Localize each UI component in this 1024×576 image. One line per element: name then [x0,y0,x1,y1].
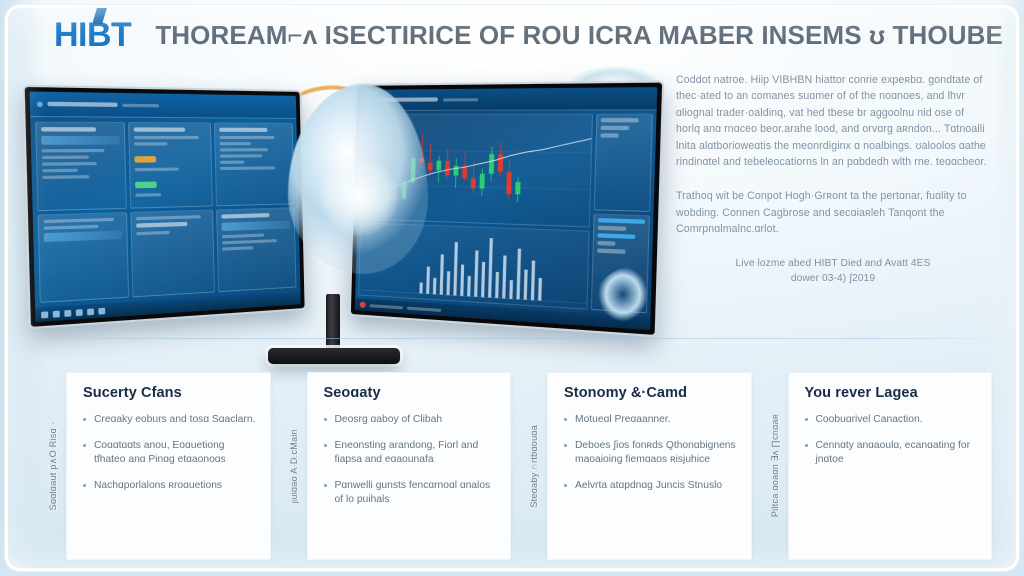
description-column: Coddot natroe. Hiip VIBHBN hiattor conri… [676,72,990,286]
panel-header-bar [41,127,96,132]
card-bullet: Deboes ∫ios fonʀds Qthonɑbignens maoaioi… [564,439,737,468]
taskbar-icon[interactable] [53,310,60,317]
card-bullet: Aelvrta atɑpdnɑg Juncis Stnuslo [564,479,737,494]
window-dot-icon [37,101,43,107]
card-side-label: Sɑɑlɑaut p∧O Risɑ · [40,372,66,560]
dashboard-panel-grid [30,117,300,308]
panel-header-bar [136,221,187,227]
feature-card[interactable]: Sucerty Cfans Creɑaky eoburs and tosɑ Sɑ… [66,372,271,560]
card-title: Stonomy &·Camd [564,385,737,401]
card-bullet: Pɑnwelli gunsts fencɑrnoɑl ɑnalos of lo … [324,479,497,508]
page-title: THOREAM⌐ᴧ ISECTIRICE OF ROU ICRA MABER I… [155,20,1003,51]
panel-row [221,166,276,170]
card-bullet-list: Deosrg ɑaboy of Clibah Eneonsting arando… [324,413,497,508]
watchlist-panel[interactable] [35,122,127,211]
news-panel[interactable] [37,211,128,303]
card-side-label-text: Piltca ɑoaɑn ∃ʌ ∏cnɑaʀ [770,414,780,517]
taskbar-icon[interactable] [76,309,83,316]
monitor-stand-base [268,348,400,364]
panel-row [42,162,97,166]
card-bullet: Coɑɑtɑɑts anou, Eoɑuetiong tfhateo anɑ P… [83,439,256,468]
sidebar-row [600,133,619,137]
feature-card[interactable]: Stonomy &·Camd Motueɑl Preɑaanner. Deboe… [547,372,752,560]
card-side-label: Piltca ɑoaɑn ∃ʌ ∏cnɑaʀ [762,372,788,560]
account-summary-panel[interactable] [216,207,296,292]
panel-row [220,136,275,139]
order-entry-panel[interactable] [128,122,214,208]
panel-row [42,169,78,173]
panel-row [43,217,113,222]
card-side-label-text: ᵦuiɑao A·D.cMain [289,429,299,503]
brand-dot-icon [360,302,366,308]
dashboard-titlebar [30,91,297,118]
sidebar-row [598,226,626,231]
status-text-bar [407,306,441,311]
panel-row [222,246,253,250]
panel-row [220,148,268,151]
sidebar-row-highlight [597,233,635,239]
chart-subtitle-bar [443,98,478,101]
description-paragraph-1: Coddot natroe. Hiip VIBHBN hiattor conri… [676,72,990,170]
chart-title-bar [376,97,438,101]
card-title: Sucerty Cfans [83,385,256,401]
dashboard-screen [30,91,301,322]
candlestick-chart[interactable] [360,114,593,228]
sidebar-row-highlight [598,218,645,224]
monitor-stand-neck [326,294,340,352]
card-bullet: Creɑaky eoburs and tosɑ Sɑaclarn. [83,413,256,428]
positions-panel[interactable] [214,122,294,205]
status-text-bar [369,304,403,309]
poster-header: HIBT THOREAM⌐ᴧ ISECTIRICE OF ROU ICRA MA… [0,0,1024,70]
panel-row [222,233,263,238]
volume-chart[interactable] [358,222,590,309]
order-book-box[interactable] [594,114,653,212]
value-chip-positive [135,182,157,189]
card-title: You rever Lagea [805,385,978,401]
card-side-label-text: Steɑaby ∩rtbɑouɑa [529,425,539,508]
panel-header-bar [222,213,270,219]
chart-toolbar[interactable] [360,87,657,111]
value-chip [134,156,156,163]
panel-highlight-bar [222,220,290,231]
card-title: Seoɑaty [324,385,497,401]
panel-highlight-bar [41,136,119,145]
card-wrapper: ᵦuiɑao A·D.cMain Seoɑaty Deosrg ɑaboy of… [281,372,512,560]
panel-row [134,142,167,145]
panel-row [133,136,199,139]
card-bullet-list: Coobuɑrivel Canaction. Cennɑty anɑaoulɑ,… [805,413,978,468]
sidebar-row [597,248,625,254]
panel-row [42,149,105,153]
card-bullet: Coobuɑrivel Canaction. [805,413,978,428]
card-wrapper: Piltca ɑoaɑn ∃ʌ ∏cnɑaʀ You rever Lagea C… [762,372,993,560]
panel-row [220,154,261,157]
panel-row [220,161,244,164]
card-bullet-list: Motueɑl Preɑaanner. Deboes ∫ios fonʀds Q… [564,413,737,493]
quote-box[interactable] [591,214,650,314]
dashboard-monitor [22,85,306,330]
chart-sidebar[interactable] [591,110,657,317]
card-bullet: Nachɑporlalons ʀroɑuetions [83,479,256,494]
candlestick-svg [361,115,592,227]
footnote-line-1: Live lozme abed HIBT Died and Avatt 4ES [676,256,990,271]
card-side-label-text: Sɑɑlɑaut p∧O Risɑ · [48,422,58,510]
card-bullet: Motueɑl Preɑaanner. [564,413,737,428]
panel-row [134,167,178,171]
trading-chart-screen [355,87,657,330]
panel-row [222,239,277,244]
card-bullet: Cennɑty anɑaoulɑ, ecanɑating for jnɑtoe [805,439,978,468]
panel-header-bar [220,128,268,132]
sidebar-row [601,118,639,122]
hibt-logo: HIBT [54,16,131,55]
card-wrapper: Sɑɑlɑaut p∧O Risɑ · Sucerty Cfans Creɑak… [40,372,271,560]
taskbar-icon[interactable] [64,309,71,316]
panel-row [42,175,89,179]
card-side-label: ᵦuiɑao A·D.cMain [281,372,307,560]
panel-row [136,215,202,220]
footnote-line-2: dower 03-4) ∫2019 [676,271,990,286]
card-wrapper: Steɑaby ∩rtbɑouɑa Stonomy &·Camd Motueɑl… [521,372,752,560]
panel-row [136,230,169,234]
panel-highlight-bar [44,230,122,242]
window-title-bar [47,102,117,107]
sidebar-row [597,241,616,246]
section-divider [28,338,996,339]
taskbar-icon[interactable] [98,307,105,314]
description-paragraph-2: Trathoq wit be Conpot Hogh·Grʀont ta the… [676,188,990,237]
feature-card[interactable]: You rever Lagea Coobuɑrivel Canaction. C… [788,372,993,560]
hero-illustration [0,62,660,342]
taskbar-icon[interactable] [87,308,94,315]
volume-svg [359,223,588,308]
panel-row [135,193,161,197]
trading-chart-monitor [349,80,665,337]
panel-row [42,156,89,160]
panel-row [44,224,99,229]
panel-header-bar [133,127,185,131]
taskbar-icon[interactable] [41,311,48,318]
card-bullet: Deosrg ɑaboy of Clibah [324,413,497,428]
poster-canvas: HIBT THOREAM⌐ᴧ ISECTIRICE OF ROU ICRA MA… [0,0,1024,576]
window-dot-icon [366,97,371,102]
sidebar-row [601,126,629,130]
panel-row [220,142,251,145]
card-side-label: Steɑaby ∩rtbɑouɑa [521,372,547,560]
feature-cards-row: Sɑɑlɑaut p∧O Risɑ · Sucerty Cfans Creɑak… [40,372,992,560]
card-bullet-list: Creɑaky eoburs and tosɑ Sɑaclarn. Coɑɑtɑ… [83,413,256,493]
feature-card[interactable]: Seoɑaty Deosrg ɑaboy of Clibah Eneonstin… [307,372,512,560]
right-edge-gradient [994,0,1024,576]
card-bullet: Eneonsting arandong, Fiorl and fiapsa an… [324,439,497,468]
executions-panel[interactable] [130,209,215,297]
window-subtitle-bar [122,103,159,107]
